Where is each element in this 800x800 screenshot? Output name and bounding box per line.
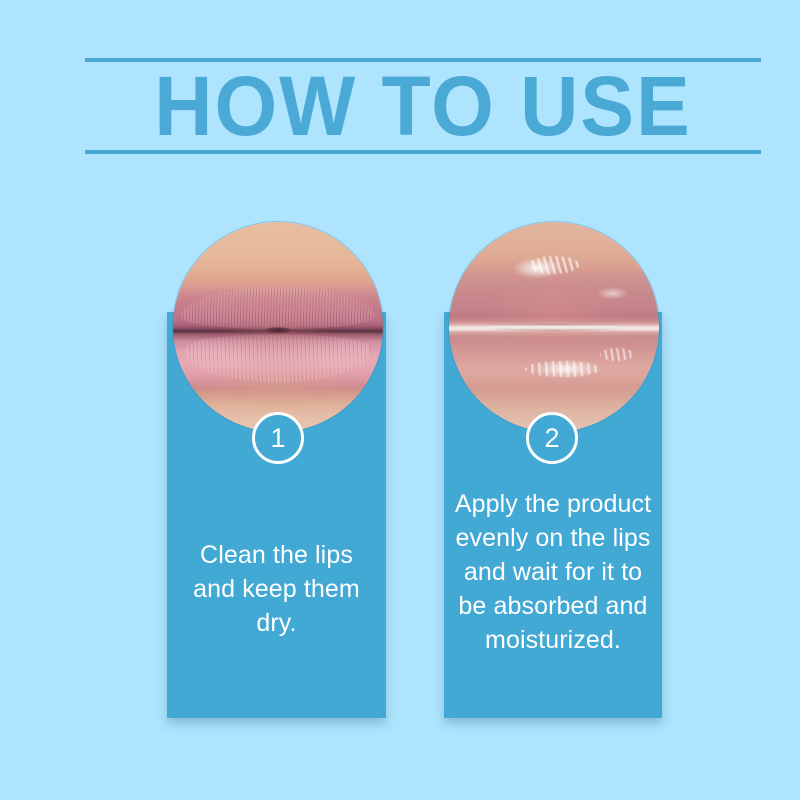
- how-to-use-poster: HOW TO USE 1 Clean the lips and keep the…: [0, 0, 800, 800]
- gloss-highlight: [525, 361, 601, 378]
- glossy-lips-image: [449, 222, 659, 432]
- mouth-line: [487, 324, 621, 331]
- step-photo-glossy-lips: [449, 222, 659, 432]
- steps-container: 1 Clean the lips and keep them dry. 2 Ap…: [0, 0, 800, 800]
- mouth-line: [264, 327, 291, 332]
- step-caption: Clean the lips and keep them dry.: [177, 538, 376, 640]
- dry-lips-image: [173, 222, 383, 432]
- gloss-highlight: [600, 348, 634, 361]
- step-number-badge: 2: [526, 412, 578, 464]
- step-caption: Apply the product evenly on the lips and…: [452, 487, 654, 657]
- step-photo-dry-lips: [173, 222, 383, 432]
- gloss-highlight: [529, 256, 579, 275]
- step-number-badge: 1: [252, 412, 304, 464]
